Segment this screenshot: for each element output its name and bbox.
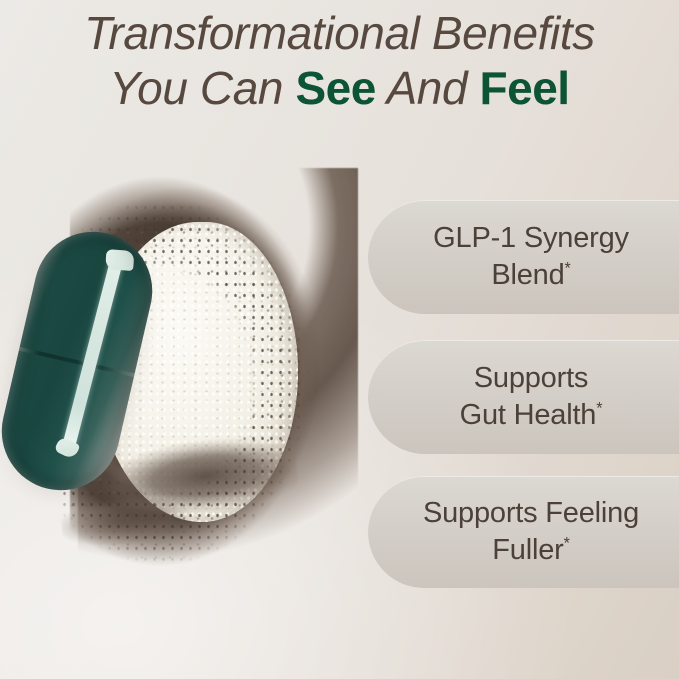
- benefit-line-2: Fuller: [492, 534, 563, 566]
- benefit-pill-glp1-synergy-blend: GLP-1 SynergyBlend*: [368, 200, 679, 314]
- benefit-footnote-marker: *: [596, 399, 602, 417]
- headline-line-2-middle: And: [376, 62, 480, 114]
- benefit-pill-label: Supports FeelingFuller*: [397, 495, 679, 569]
- headline-accent-see: See: [295, 62, 375, 114]
- headline-line-1: Transformational Benefits: [0, 10, 679, 57]
- benefit-pill-supports-feeling-fuller: Supports FeelingFuller*: [368, 476, 679, 588]
- benefit-line-2: Blend: [491, 259, 564, 291]
- product-photo: [0, 160, 370, 620]
- benefit-footnote-marker: *: [564, 534, 570, 552]
- headline-accent-feel: Feel: [480, 62, 570, 114]
- benefit-line-2: Gut Health: [460, 399, 597, 431]
- benefit-pill-label: SupportsGut Health*: [397, 360, 679, 434]
- benefit-footnote-marker: *: [565, 259, 571, 277]
- benefit-line-1: Supports Feeling: [423, 497, 639, 529]
- benefit-pill-supports-gut-health: SupportsGut Health*: [368, 340, 679, 454]
- benefit-line-1: Supports: [474, 362, 588, 394]
- benefit-line-1: GLP-1 Synergy: [433, 222, 629, 254]
- headline-block: Transformational Benefits You Can See An…: [0, 10, 679, 113]
- promo-banner: Transformational Benefits You Can See An…: [0, 0, 679, 679]
- benefit-pill-label: GLP-1 SynergyBlend*: [397, 220, 679, 294]
- headline-line-2: You Can See And Feel: [0, 65, 679, 112]
- headline-line-2-prefix: You Can: [109, 62, 295, 114]
